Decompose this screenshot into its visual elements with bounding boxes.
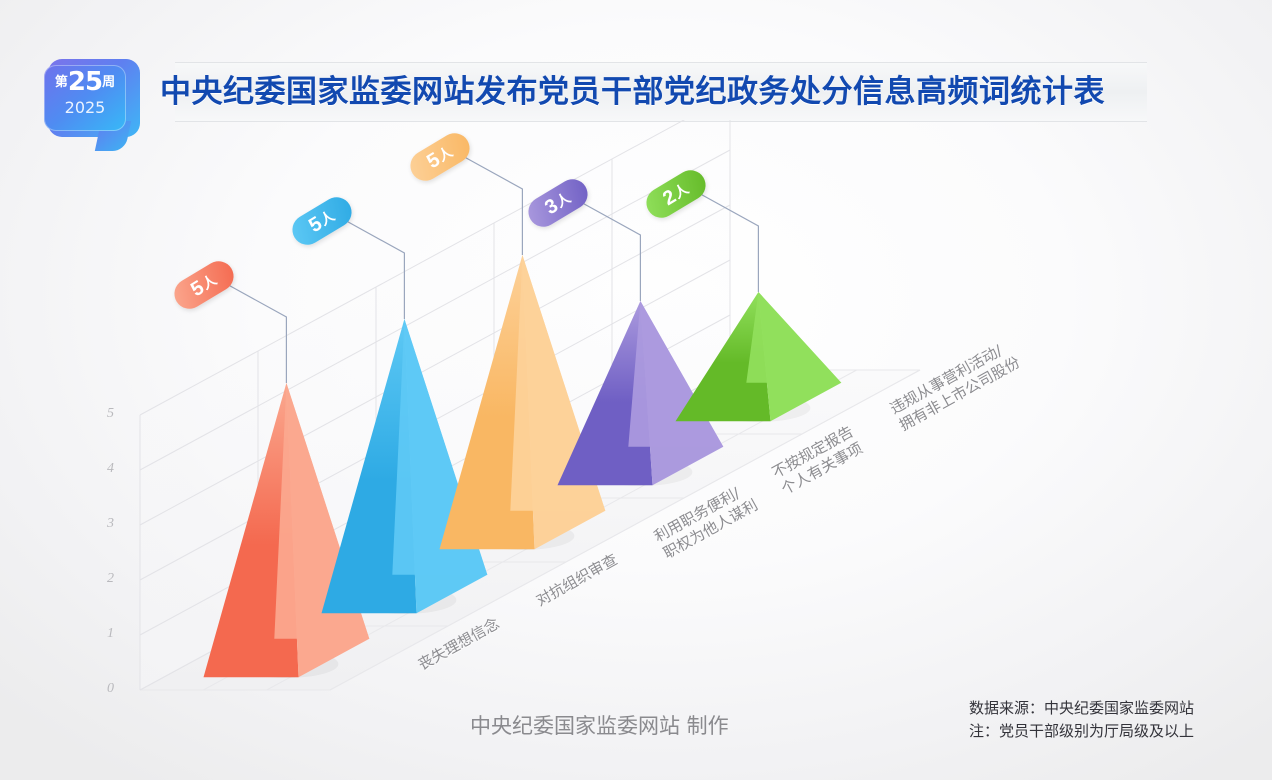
y-axis-tick: 5 xyxy=(92,406,114,422)
badge-suffix: 周 xyxy=(102,75,115,90)
source-note-block: 数据来源：中央纪委国家监委网站 注：党员干部级别为厅局级及以上 xyxy=(969,697,1194,743)
badge-year: 2025 xyxy=(44,96,126,120)
y-axis-tick: 4 xyxy=(92,461,114,477)
y-axis-tick: 3 xyxy=(92,516,114,532)
y-axis-tick: 0 xyxy=(92,681,114,697)
credit-line: 中央纪委国家监委网站 制作 xyxy=(470,710,729,740)
chart-stage: 012345 5人5人5人3人2人 丧失理想信念对抗组织审查利用职务便利/ 职权… xyxy=(0,120,1272,740)
source-line: 数据来源：中央纪委国家监委网站 xyxy=(969,697,1194,720)
note-line: 注：党员干部级别为厅局级及以上 xyxy=(969,720,1194,743)
page-title: 中央纪委国家监委网站发布党员干部党纪政务处分信息高频词统计表 xyxy=(160,70,1160,114)
bar-series xyxy=(204,255,842,677)
bar-face-side xyxy=(746,292,841,383)
badge-week-line: 第25周 xyxy=(44,67,126,97)
badge-prefix: 第 xyxy=(55,75,68,90)
y-axis-tick: 2 xyxy=(92,571,114,587)
y-axis-tick: 1 xyxy=(92,626,114,642)
chart-canvas xyxy=(0,120,1272,740)
badge-number: 25 xyxy=(68,67,102,97)
